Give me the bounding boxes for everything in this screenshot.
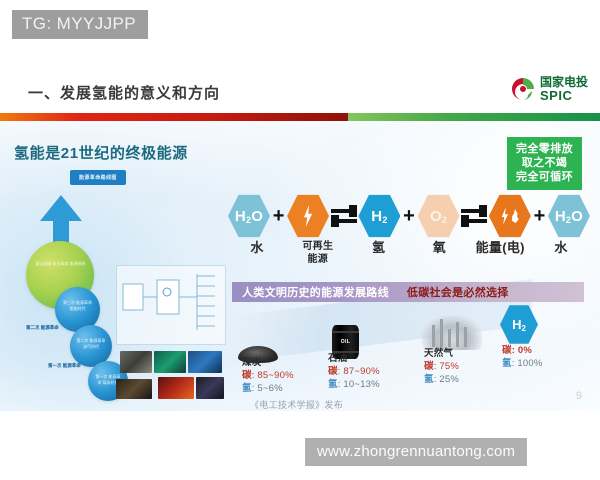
equation-label-hydrogen: 氢 bbox=[350, 241, 408, 255]
stage-data-oil: 石油 碳: 87~90% 氢: 10~13% bbox=[328, 353, 380, 391]
roadmap-node-3-caption: 第三次 能源革命 氢能时代 bbox=[61, 300, 94, 312]
logo-name-en: SPIC bbox=[540, 89, 588, 102]
reversible-arrow-icon-2 bbox=[461, 205, 487, 227]
oxygen-formula: O2 bbox=[430, 208, 447, 225]
hydrogen-value-oil: 10~13% bbox=[343, 379, 379, 390]
logo-name-cn: 国家电投 bbox=[540, 76, 588, 88]
equation-label-oxygen: 氧 bbox=[410, 241, 468, 255]
flame-glyph bbox=[510, 209, 520, 223]
roadmap-thumb-electronics bbox=[188, 351, 222, 373]
stage-hydrogen-coal: 氢: 5~6% bbox=[242, 383, 294, 396]
oxygen-hexagon-icon: O2 bbox=[418, 194, 460, 239]
reversible-arrow-icon bbox=[331, 205, 357, 227]
water-hexagon-icon: H2O bbox=[228, 194, 270, 239]
roadmap-node-2-caption: 第二次 能源革命 油气时代 bbox=[76, 338, 106, 350]
roadmap-flow-diagram bbox=[116, 265, 226, 345]
carbon-value-hydrogen: 0% bbox=[518, 345, 532, 356]
equation-label-water-left: 水 bbox=[228, 241, 286, 255]
stage-name-coal: 煤炭 bbox=[242, 357, 294, 370]
slide-title: 氢能是21世纪的终极能源 bbox=[14, 142, 188, 163]
banner-left-text: 人类文明历史的能源发展路线 bbox=[242, 284, 389, 300]
hydrogen-key-coal: 氢 bbox=[242, 383, 252, 394]
hydrogen-cycle-equation: H2O + H2 + O2 + H2O bbox=[228, 193, 590, 239]
carbon-key-coal: 碳 bbox=[242, 370, 252, 381]
roadmap-thumb-industry bbox=[154, 351, 186, 373]
logo-text: 国家电投 SPIC bbox=[540, 76, 588, 102]
slide-root: TG: MYYJJPP 一、发展氢能的意义和方向 国家电投 SPIC 氢能是21… bbox=[0, 0, 600, 480]
roadmap-label-second-revolution: 第二次 能源革命 bbox=[26, 325, 59, 332]
hydrogen-value-hydrogen: 100% bbox=[517, 358, 542, 369]
divider-green-segment bbox=[348, 113, 600, 121]
green-callout: 完全零排放 取之不竭 完全可循环 bbox=[507, 137, 582, 190]
plus-icon-3: + bbox=[533, 205, 547, 228]
stage-name-gas: 天然气 bbox=[424, 348, 459, 361]
roadmap-thumb-steam bbox=[116, 379, 152, 399]
carbon-value-oil: 87~90% bbox=[343, 366, 379, 377]
water-formula: H2O bbox=[235, 208, 263, 225]
equation-label-energy: 能量(电) bbox=[471, 241, 529, 255]
plus-icon: + bbox=[272, 205, 286, 228]
hydrogen-value-coal: 5~6% bbox=[257, 383, 282, 394]
energy-revolution-roadmap: 能源革命路线图 清洁低碳 安全高效 能源体系 第三次 能源革命 氢能时代 第二次… bbox=[8, 165, 230, 403]
hydrogen-key-oil: 氢 bbox=[328, 379, 338, 390]
spic-logo: 国家电投 SPIC bbox=[510, 76, 588, 102]
gas-plant-icon bbox=[422, 316, 482, 350]
callout-line-1: 完全零排放 bbox=[516, 142, 573, 156]
divider-red-segment bbox=[0, 113, 348, 121]
stage-hydrogen-gas: 氢: 25% bbox=[424, 374, 459, 387]
water-formula-2: H2O bbox=[555, 208, 583, 225]
carbon-key-oil: 碳 bbox=[328, 366, 338, 377]
water-hexagon-icon-2: H2O bbox=[548, 194, 590, 239]
stage-hydrogen-hydrogen: 氢: 100% bbox=[502, 358, 543, 371]
page-title: 一、发展氢能的意义和方向 bbox=[28, 82, 220, 103]
stage-hydrogen-oil: 氢: 10~13% bbox=[328, 379, 380, 392]
carbon-key-gas: 碳 bbox=[424, 361, 434, 372]
site-watermark: www.zhongrennuantong.com bbox=[305, 438, 527, 466]
bolt-glyph-2 bbox=[500, 208, 510, 225]
plus-icon-2: + bbox=[402, 205, 416, 228]
hydrogen-formula: H2 bbox=[371, 208, 387, 225]
roadmap-thumb-night bbox=[196, 377, 224, 399]
stage-data-gas: 天然气 碳: 75% 氢: 25% bbox=[424, 348, 459, 386]
roadmap-label-first-revolution: 第一次 能源革命 bbox=[48, 363, 81, 370]
lightning-bolt-hexagon-icon bbox=[287, 194, 329, 239]
hydrogen-hexagon-icon: H2 bbox=[358, 194, 400, 239]
callout-line-2: 取之不竭 bbox=[516, 156, 573, 170]
roadmap-thumb-fire bbox=[158, 377, 194, 399]
roadmap-goal-caption: 清洁低碳 安全高效 能源体系 bbox=[35, 261, 86, 267]
spic-logo-icon bbox=[510, 76, 536, 102]
stage-name-oil: 石油 bbox=[328, 353, 380, 366]
bolt-glyph bbox=[302, 205, 315, 227]
equation-label-water-right: 水 bbox=[532, 241, 590, 255]
callout-line-3: 完全可循环 bbox=[516, 170, 573, 184]
hydrogen-key-gas: 氢 bbox=[424, 374, 434, 385]
equation-labels: 水 可再生 能源 氢 氧 能量(电) 水 bbox=[228, 241, 590, 266]
page-number: 9 bbox=[576, 390, 582, 402]
stage-carbon-oil: 碳: 87~90% bbox=[328, 366, 380, 379]
stage-carbon-coal: 碳: 85~90% bbox=[242, 370, 294, 383]
hydrogen-value-gas: 25% bbox=[439, 374, 459, 385]
source-attribution: 《电工技术学报》发布 bbox=[250, 398, 343, 411]
hydrogen-key-hydrogen: 氢 bbox=[502, 358, 512, 369]
roadmap-thumb-coal bbox=[120, 351, 152, 373]
hydrogen-big-formula: H2 bbox=[512, 317, 526, 333]
banner-right-text: 低碳社会是必然选择 bbox=[407, 284, 509, 300]
brand-divider-bar bbox=[0, 113, 600, 121]
stage-data-coal: 煤炭 碳: 85~90% 氢: 5~6% bbox=[242, 357, 294, 395]
energy-route-banner: 人类文明历史的能源发展路线 低碳社会是必然选择 bbox=[232, 282, 584, 302]
stage-data-hydrogen: 碳: 0% 氢: 100% bbox=[502, 345, 543, 371]
stage-carbon-gas: 碳: 75% bbox=[424, 361, 459, 374]
stage-carbon-hydrogen: 碳: 0% bbox=[502, 345, 543, 358]
renewable-line-1: 可再生 bbox=[289, 241, 347, 254]
oil-barrel-label: OIL bbox=[332, 339, 359, 345]
carbon-key-hydrogen: 碳 bbox=[502, 345, 512, 356]
carbon-value-coal: 85~90% bbox=[257, 370, 293, 381]
carbon-value-gas: 75% bbox=[439, 361, 459, 372]
tg-watermark: TG: MYYJJPP bbox=[12, 10, 148, 39]
energy-flame-hexagon-icon bbox=[489, 194, 531, 239]
roadmap-tag: 能源革命路线图 bbox=[70, 170, 126, 185]
renewable-line-2: 能源 bbox=[289, 254, 347, 267]
equation-label-renewable: 可再生 能源 bbox=[289, 241, 347, 266]
up-arrow-icon bbox=[40, 195, 82, 221]
